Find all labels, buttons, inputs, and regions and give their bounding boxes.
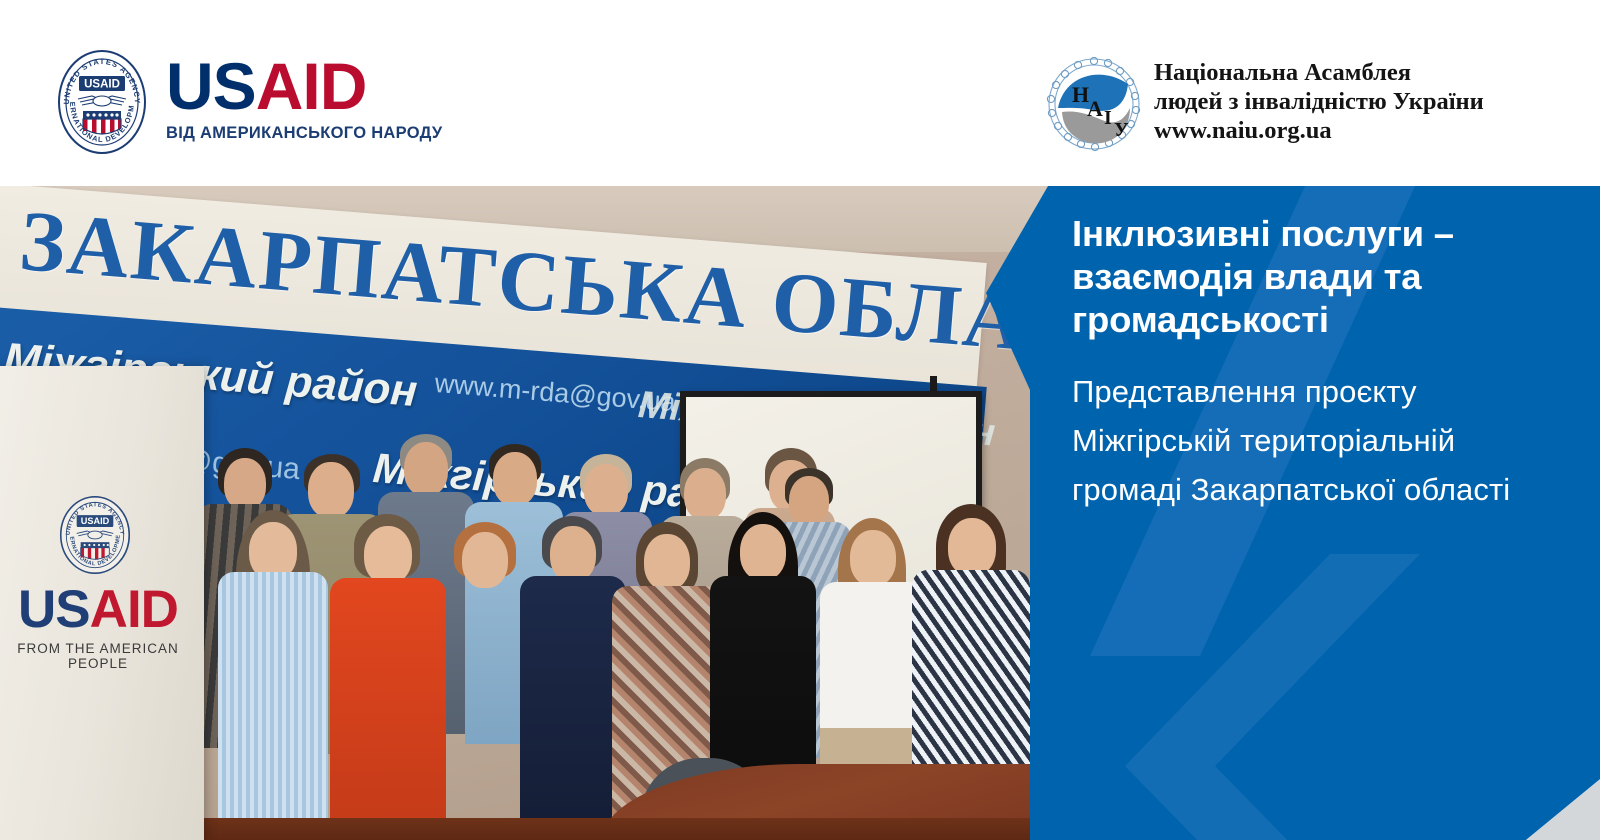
rollup-wordmark-aid: AID: [90, 580, 178, 639]
rollup-tagline: FROM THE AMERICAN PEOPLE: [0, 641, 198, 671]
usaid-logo-lockup: UNITED STATES AGENCY INTERNATIONAL DEVEL…: [48, 46, 468, 158]
naiu-emblem-icon: Н А І У: [1042, 52, 1146, 156]
panel-title: Інклюзивні послуги – взаємодія влади та …: [1072, 212, 1550, 341]
rollup-wordmark-us: US: [18, 580, 90, 639]
naiu-line-1: Національна Асамблея: [1154, 58, 1484, 87]
corner-chevron-light: [1470, 746, 1600, 840]
naiu-line-3: www.naiu.org.ua: [1154, 116, 1484, 145]
panel-text-block: Інклюзивні послуги – взаємодія влади та …: [1072, 212, 1550, 514]
naiu-logo-lockup: Н А І У Національна Асамблея людей з інв…: [1042, 48, 1542, 158]
usaid-rollup-banner: UNITED STATES AGENCY INTERNATIONAL DEVEL…: [0, 366, 204, 840]
rollup-usaid-wordmark: USAID FROM THE AMERICAN PEOPLE: [0, 582, 198, 671]
svg-text:А: А: [1087, 96, 1103, 121]
chevron-accent: [1125, 554, 1420, 840]
usaid-tagline: ВІД АМЕРИКАНСЬКОГО НАРОДУ: [166, 124, 466, 143]
panel-subtitle: Представлення проєкту Міжгірській терито…: [1072, 367, 1550, 514]
svg-text:USAID: USAID: [84, 78, 120, 90]
naiu-text-block: Національна Асамблея людей з інвалідніст…: [1154, 58, 1484, 145]
rollup-usaid-seal-icon: UNITED STATES AGENCY INTERNATIONAL DEVEL…: [52, 492, 138, 578]
usaid-wordmark-us: US: [166, 49, 256, 123]
svg-text:USAID: USAID: [81, 516, 110, 526]
usaid-wordmark-aid: AID: [256, 49, 367, 123]
usaid-seal-icon: UNITED STATES AGENCY INTERNATIONAL DEVEL…: [48, 48, 156, 156]
meeting-table-front: [170, 818, 1055, 840]
svg-text:У: У: [1114, 119, 1129, 141]
slide-canvas: UNITED STATES AGENCY INTERNATIONAL DEVEL…: [0, 0, 1600, 840]
svg-text:І: І: [1104, 107, 1112, 129]
usaid-wordmark: USAID ВІД АМЕРИКАНСЬКОГО НАРОДУ: [166, 50, 466, 143]
header-bar: UNITED STATES AGENCY INTERNATIONAL DEVEL…: [0, 0, 1600, 186]
naiu-line-2: людей з інвалідністю України: [1154, 87, 1484, 116]
event-photo: ЗАКАРПАТСЬКА ОБЛАСТЬ Міжгірський район w…: [0, 186, 1055, 840]
